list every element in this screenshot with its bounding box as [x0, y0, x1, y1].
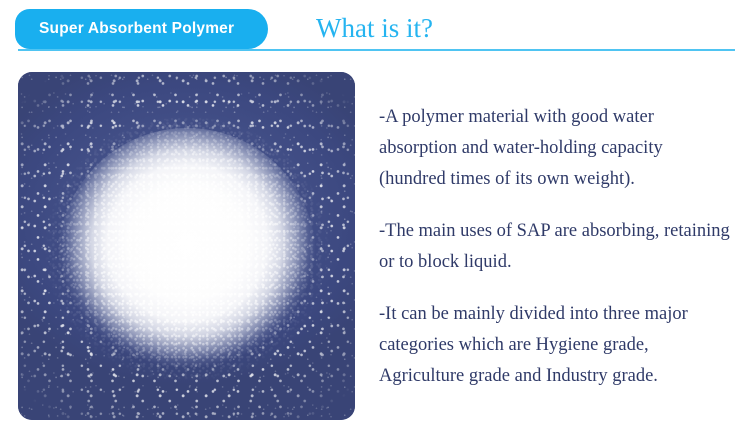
- description-paragraph-3: -It can be mainly divided into three maj…: [379, 299, 731, 392]
- header-divider: [18, 49, 735, 51]
- description-paragraph-1: -A polymer material with good water abso…: [379, 102, 731, 195]
- product-description: -A polymer material with good water abso…: [379, 102, 731, 392]
- page-header: Super Absorbent Polymer What is it?: [0, 0, 750, 60]
- product-image-granule-texture: [44, 117, 330, 389]
- product-name-label: Super Absorbent Polymer: [39, 20, 234, 38]
- product-info-page: Super Absorbent Polymer What is it? -A p…: [0, 0, 750, 434]
- product-image: [18, 72, 355, 420]
- description-paragraph-2: -The main uses of SAP are absorbing, ret…: [379, 216, 731, 278]
- product-name-banner: Super Absorbent Polymer: [15, 9, 268, 49]
- page-title: What is it?: [316, 8, 433, 48]
- page-content: -A polymer material with good water abso…: [0, 60, 750, 434]
